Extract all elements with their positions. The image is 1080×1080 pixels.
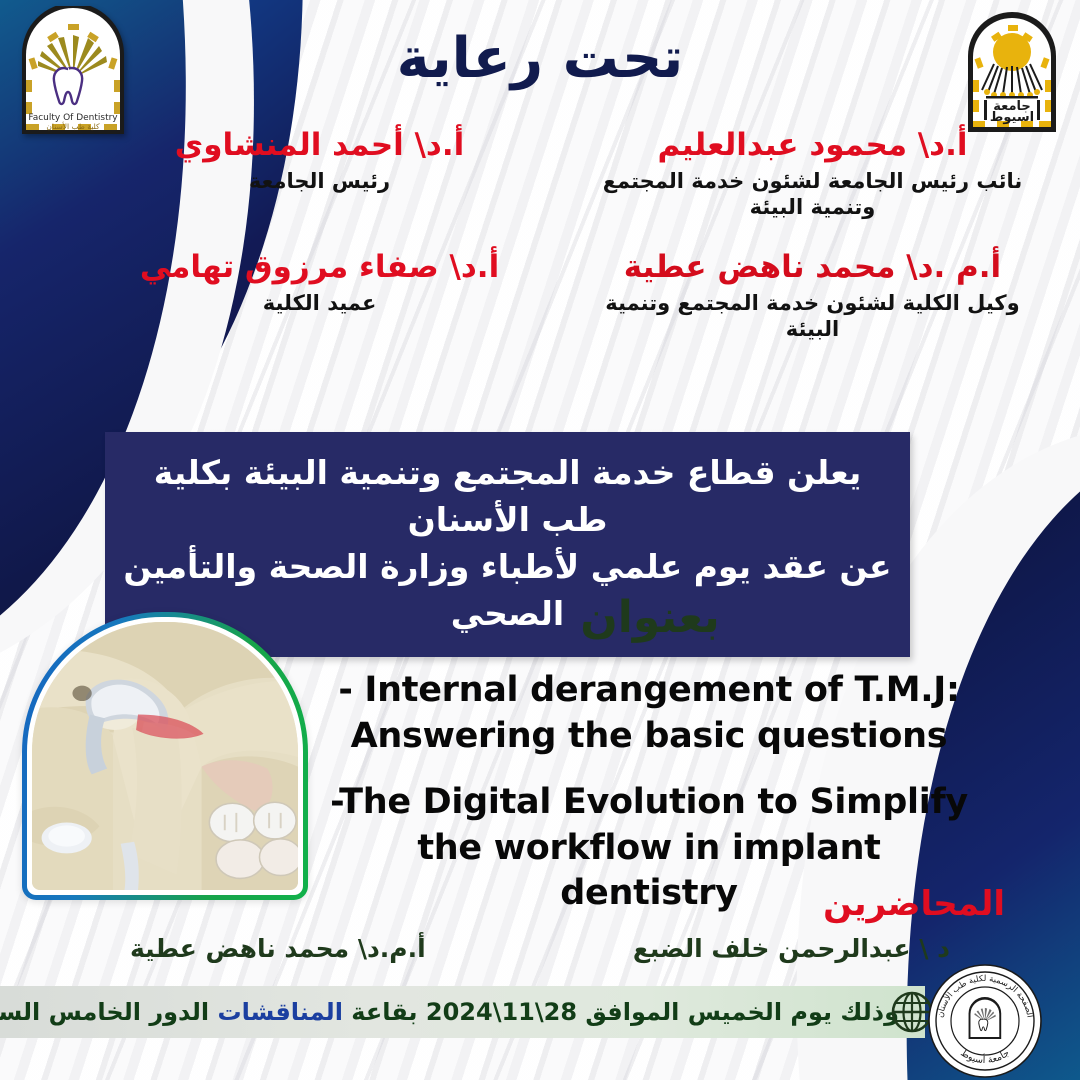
lecturer-left-name: د \ عبدالرحمن خلف الضبع	[633, 934, 950, 963]
tmj-anatomy-illustration	[32, 622, 298, 890]
tmj-image-frame	[22, 612, 308, 900]
patron-vice-president: أ.د\ محمود عبدالعليم نائب رئيس الجامعة ل…	[585, 128, 1040, 220]
event-datetime-text: وذلك يوم الخميس الموافق 28\11\2024 بقاعة…	[0, 998, 925, 1026]
poster-canvas: Faculty Of Dentistry كلية طب الأسنان	[0, 0, 1080, 1080]
patrons-row-2: أ.م .د\ محمد ناهض عطية وكيل الكلية لشئون…	[92, 250, 1040, 342]
patron-title: رئيس الجامعة	[92, 168, 547, 194]
patron-dean: أ.د\ صفاء مرزوق تهامي عميد الكلية	[92, 250, 547, 316]
lecturers-row: د \ عبدالرحمن خلف الضبع أ.م.د\ محمد ناهض…	[130, 934, 950, 963]
lecturer-right-name: أ.م.د\ محمد ناهض عطية	[130, 934, 426, 963]
patrons-row-1: أ.د\ محمود عبدالعليم نائب رئيس الجامعة ل…	[92, 128, 1040, 220]
patronage-heading: تحت رعاية	[0, 26, 1080, 91]
event-datetime-bar: وذلك يوم الخميس الموافق 28\11\2024 بقاعة…	[0, 986, 925, 1038]
patron-name: أ.م .د\ محمد ناهض عطية	[585, 250, 1040, 286]
faculty-seal: الصفحة الرسمية لكلية طب الأسنان جامعة أس…	[926, 962, 1044, 1080]
footer-hall-name: المناقشات	[218, 998, 343, 1026]
patron-name: أ.د\ أحمد المنشاوي	[92, 128, 547, 164]
faculty-logo-ar-text: كلية طب الأسنان	[46, 121, 100, 131]
footer-after-hall: الدور الخامس الساعة 10 صباحا	[0, 998, 218, 1026]
topics-heading: بعنوان	[330, 592, 970, 643]
topic-1: - Internal derangement of T.M.J: Answeri…	[324, 668, 974, 759]
patrons-section: أ.د\ محمود عبدالعليم نائب رئيس الجامعة ل…	[92, 128, 1040, 342]
announcement-line-1: يعلن قطاع خدمة المجتمع وتنمية البيئة بكل…	[119, 450, 896, 544]
patron-president: أ.د\ أحمد المنشاوي رئيس الجامعة	[92, 128, 547, 194]
patron-title: عميد الكلية	[92, 290, 547, 316]
patron-vice-dean: أ.م .د\ محمد ناهض عطية وكيل الكلية لشئون…	[585, 250, 1040, 342]
faculty-of-dentistry-logo: Faculty Of Dentistry كلية طب الأسنان	[14, 6, 132, 141]
patron-title: وكيل الكلية لشئون خدمة المجتمع وتنمية ال…	[585, 290, 1040, 343]
patron-name: أ.د\ صفاء مرزوق تهامي	[92, 250, 547, 286]
footer-before-hall: وذلك يوم الخميس الموافق 28\11\2024 بقاعة	[343, 998, 899, 1026]
lecturers-heading: المحاضرين	[823, 884, 1005, 924]
patron-title: نائب رئيس الجامعة لشئون خدمة المجتمع وتن…	[585, 168, 1040, 221]
assiut-university-logo: جامعة اسيوط	[960, 8, 1064, 136]
university-logo-line2: اسيوط	[990, 110, 1034, 125]
